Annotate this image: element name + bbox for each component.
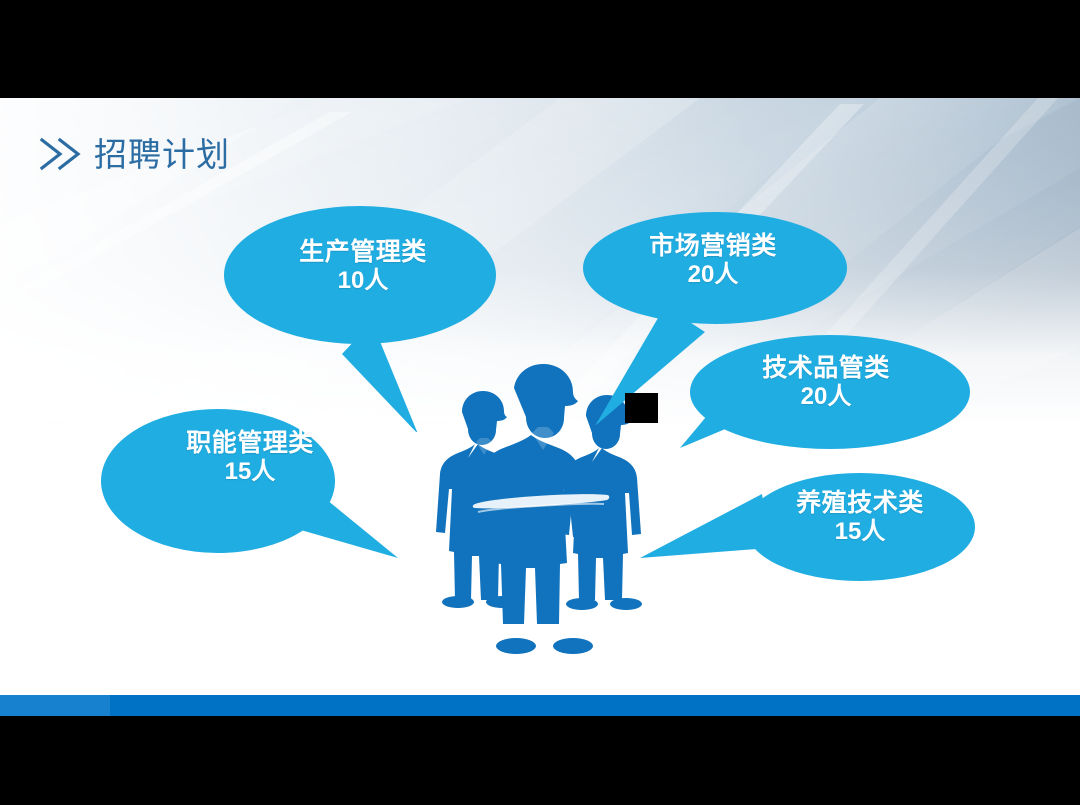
letterbox-bottom <box>0 716 1080 805</box>
bubble-functional-shape <box>100 408 400 560</box>
black-redaction-box <box>625 393 658 423</box>
bubble-production[interactable]: 生产管理类 10人 <box>222 202 504 432</box>
bottom-accent-bar <box>0 695 1080 716</box>
bottom-accent-bar-highlight <box>0 695 110 716</box>
page-title: 招聘计划 <box>94 138 230 171</box>
bubble-quality-shape <box>680 334 972 452</box>
slide-canvas: 招聘计划 <box>0 98 1080 716</box>
bubble-functional[interactable]: 职能管理类 15人 <box>100 408 400 560</box>
letterbox-top <box>0 0 1080 98</box>
bubble-breeding-shape <box>640 472 976 585</box>
bubble-quality[interactable]: 技术品管类 20人 <box>680 334 972 452</box>
bubble-breeding[interactable]: 养殖技术类 15人 <box>640 472 976 585</box>
double-chevron-right-icon <box>38 136 86 172</box>
slide-frame: 招聘计划 <box>0 0 1080 805</box>
bubble-production-shape <box>222 202 504 432</box>
page-title-row: 招聘计划 <box>38 136 230 172</box>
